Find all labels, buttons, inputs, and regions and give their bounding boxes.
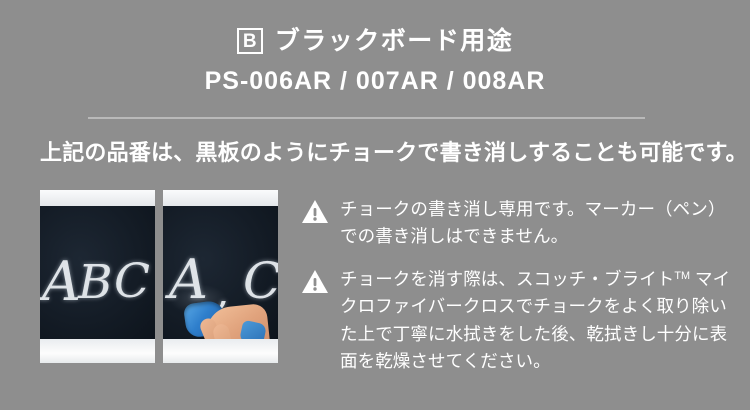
lead-statement: 上記の品番は、黒板のようにチョークで書き消しすることも可能です。 [40,139,720,167]
note-text: チョークを消す際は、スコッチ・ブライトTM マイクロファイバークロスでチョークを… [340,266,741,375]
blackboard-usage-panel: B ブラックボード用途 PS-006AR / 007AR / 008AR 上記の… [0,0,750,410]
header-divider [88,117,645,119]
blackboard-surface: A B C [40,206,155,339]
header: B ブラックボード用途 PS-006AR / 007AR / 008AR [0,24,750,94]
note-text-part1: チョークを消す際は、スコッチ・ブライト [340,269,674,289]
chalk-letter-c: C [114,254,150,309]
board-frame-top [40,190,155,206]
board-frame-top [163,190,278,206]
section-badge-b: B [237,28,263,54]
warning-triangle-icon [301,269,329,294]
model-codes: PS-006AR / 007AR / 008AR [0,69,750,94]
trademark-symbol: TM [674,270,690,282]
title-row: B ブラックボード用途 [0,24,750,58]
note-item: チョークを消す際は、スコッチ・ブライトTM マイクロファイバークロスでチョークを… [301,266,741,375]
photo-chalk-written: A B C [40,190,155,363]
board-frame-bottom [40,339,155,363]
chalk-letter-a: A [42,250,81,313]
photo-group: A B C A , C [40,190,278,363]
board-frame-bottom [163,339,278,363]
page-title: ブラックボード用途 [275,29,514,54]
note-item: チョークの書き消し専用です。マーカー（ペン）での書き消しはできません。 [301,196,741,250]
warning-triangle-icon [301,199,329,224]
note-text: チョークの書き消し専用です。マーカー（ペン）での書き消しはできません。 [340,196,741,250]
chalk-letter-b: B [78,255,113,310]
blackboard-surface: A , C [163,206,278,339]
notes-list: チョークの書き消し専用です。マーカー（ペン）での書き消しはできません。 チョーク… [301,196,741,391]
photo-chalk-erasing: A , C [163,190,278,363]
chalk-letter-c: C [243,252,278,310]
